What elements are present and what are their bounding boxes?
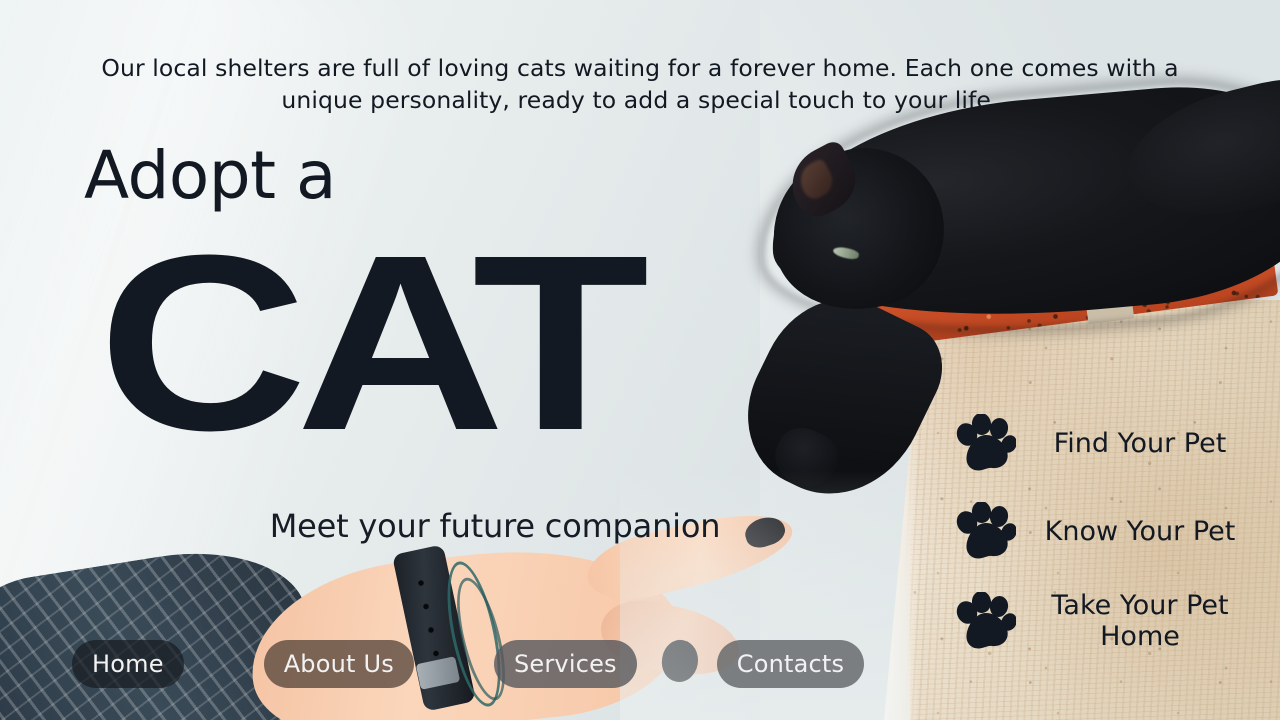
feature-item-label: Find Your Pet bbox=[1026, 428, 1254, 459]
nav-item-home-label: Home bbox=[92, 650, 164, 678]
eyebrow-heading: Adopt a bbox=[84, 140, 336, 212]
nav-item-home[interactable]: Home bbox=[72, 640, 184, 688]
tagline: Meet your future companion bbox=[0, 506, 990, 546]
feature-list: Find Your Pet Know Your Pet bbox=[954, 414, 1254, 652]
nav-item-contacts-label: Contacts bbox=[737, 650, 844, 678]
paw-print-icon bbox=[954, 502, 1016, 560]
paw-print-icon bbox=[954, 414, 1016, 472]
nav-item-services-label: Services bbox=[514, 650, 617, 678]
main-navigation: Home About Us Services Contacts bbox=[72, 640, 864, 688]
intro-paragraph: Our local shelters are full of loving ca… bbox=[88, 52, 1192, 116]
feature-item-find-your-pet[interactable]: Find Your Pet bbox=[954, 414, 1254, 472]
feature-item-know-your-pet[interactable]: Know Your Pet bbox=[954, 502, 1254, 560]
feature-item-label: Know Your Pet bbox=[1026, 516, 1254, 547]
hero-slide: Our local shelters are full of loving ca… bbox=[0, 0, 1280, 720]
page-title: CAT bbox=[98, 218, 638, 468]
nav-item-contacts[interactable]: Contacts bbox=[717, 640, 864, 688]
feature-item-label: Take Your Pet Home bbox=[1026, 590, 1254, 652]
feature-item-take-your-pet-home[interactable]: Take Your Pet Home bbox=[954, 590, 1254, 652]
nav-item-services[interactable]: Services bbox=[494, 640, 637, 688]
nav-item-about-us-label: About Us bbox=[284, 650, 394, 678]
paw-print-icon bbox=[954, 592, 1016, 650]
nav-item-about-us[interactable]: About Us bbox=[264, 640, 414, 688]
